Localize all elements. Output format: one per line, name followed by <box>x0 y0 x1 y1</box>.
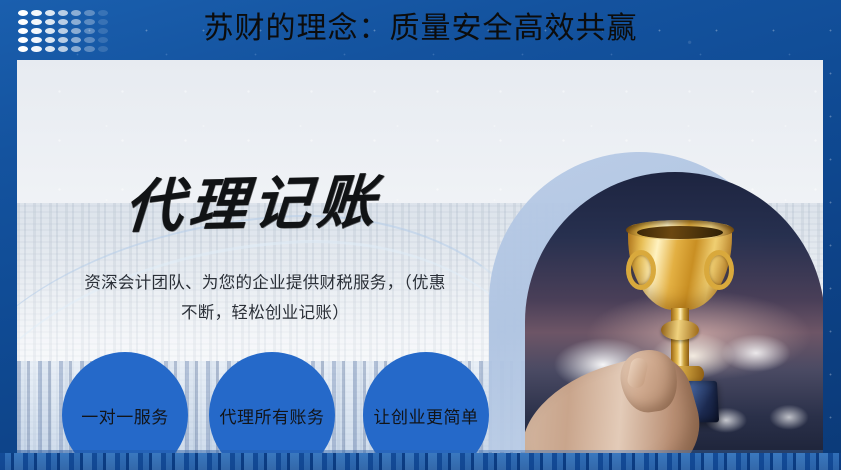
trophy-cup-interior <box>637 226 723 239</box>
headline-calligraphy: 代理记账 <box>122 165 383 242</box>
page-title: 苏财的理念：质量安全高效共赢 <box>0 6 841 52</box>
headline-subtitle: 资深会计团队、为您的企业提供财税服务，（优惠不断，轻松创业记账） <box>79 268 451 328</box>
trophy-stem-knot <box>661 320 699 340</box>
trophy-in-hand-photo <box>525 172 823 453</box>
content-panel: 代理记账 资深会计团队、为您的企业提供财税服务，（优惠不断，轻松创业记账） 一对… <box>17 60 823 453</box>
badge-label-3[interactable]: 让创业更简单 <box>331 352 521 453</box>
slide-canvas: 苏财的理念：质量安全高效共赢 <box>0 0 841 470</box>
trophy-handle-left <box>626 250 656 290</box>
footer-strip <box>0 453 841 470</box>
trophy-handle-right <box>704 250 734 290</box>
slide-header: 苏财的理念：质量安全高效共赢 <box>0 0 841 60</box>
